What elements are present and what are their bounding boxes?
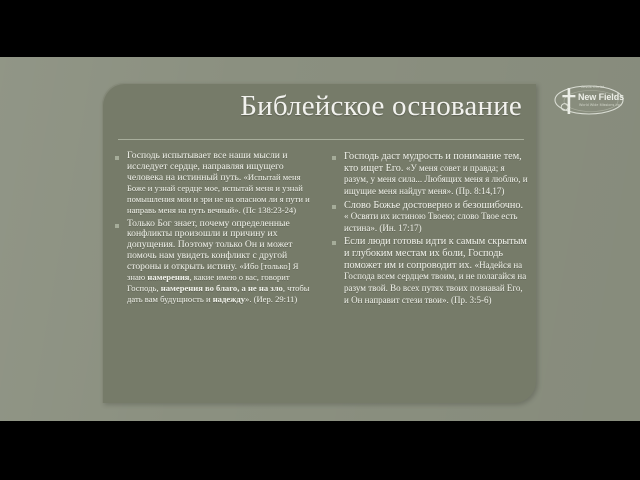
logo: Jesus Christ New Fields World Wide Missi… bbox=[551, 81, 627, 121]
bullet-lead-text: Слово Божье достоверно и безошибочно. bbox=[344, 200, 523, 211]
quote-text: ». (Иер. 29:11) bbox=[245, 294, 297, 304]
title-divider bbox=[118, 139, 524, 140]
logo-name: New Fields bbox=[578, 92, 624, 102]
letterbox-top bbox=[0, 0, 640, 57]
list-item: Слово Божье достоверно и безошибочно. « … bbox=[331, 200, 528, 235]
logo-top-text: Jesus Christ bbox=[581, 85, 604, 89]
logo-tagline: World Wide Missions Inc. bbox=[579, 103, 622, 107]
body-columns: Господь испытывает все наши мысли и иссл… bbox=[102, 145, 536, 401]
slide-canvas: Библейское основание Господь испытывает … bbox=[0, 57, 640, 421]
cross-icon bbox=[560, 87, 578, 115]
slide-stage: Библейское основание Господь испытывает … bbox=[0, 0, 640, 480]
list-item: Господь даст мудрость и понимание тем, к… bbox=[331, 151, 528, 198]
page-title: Библейское основание bbox=[240, 90, 522, 123]
emphasis-text: надежду bbox=[213, 294, 245, 304]
list-item: Господь испытывает все наши мысли и иссл… bbox=[114, 151, 311, 217]
emphasis-text: намерения bbox=[147, 272, 189, 282]
right-bullet-list: Господь даст мудрость и понимание тем, к… bbox=[331, 151, 528, 306]
list-item: Только Бог знает, почему определенные ко… bbox=[114, 219, 311, 306]
emphasis-text: намерения во благо, а не на зло bbox=[161, 283, 283, 293]
title-block: Библейское основание bbox=[102, 83, 536, 145]
content-panel: Библейское основание Господь испытывает … bbox=[102, 83, 536, 403]
left-column: Господь испытывает все наши мысли и иссл… bbox=[102, 145, 319, 308]
quote-text: « Освяти их истиною Твоею; слово Твое ес… bbox=[344, 211, 518, 233]
scripture-quote: « Освяти их истиною Твоею; слово Твое ес… bbox=[344, 211, 518, 233]
list-item: Если люди готовы идти к самым скрытым и … bbox=[331, 236, 528, 306]
letterbox-bottom bbox=[0, 421, 640, 480]
right-column: Господь даст мудрость и понимание тем, к… bbox=[319, 145, 536, 308]
left-bullet-list: Господь испытывает все наши мысли и иссл… bbox=[114, 151, 311, 306]
